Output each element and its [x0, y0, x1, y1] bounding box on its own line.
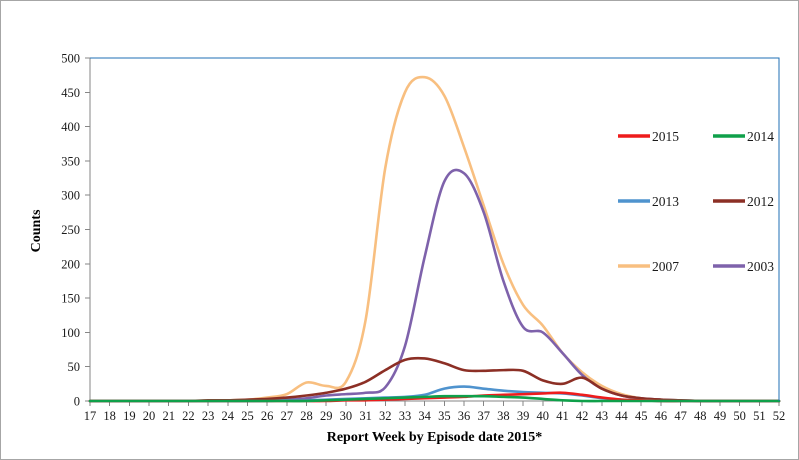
- x-tick-label: 23: [202, 409, 215, 423]
- x-tick-label: 30: [340, 409, 353, 423]
- legend-item-2012[interactable]: 2012: [713, 194, 774, 209]
- y-tick-label: 250: [61, 223, 80, 237]
- legend-label-2013: 2013: [652, 194, 679, 209]
- legend-item-2014[interactable]: 2014: [713, 129, 774, 144]
- x-tick-label: 39: [517, 409, 530, 423]
- x-tick-label: 35: [438, 409, 451, 423]
- x-tick-label: 40: [537, 409, 550, 423]
- x-tick-label: 44: [615, 409, 628, 423]
- legend-label-2007: 2007: [652, 259, 679, 274]
- axes: [90, 58, 779, 401]
- legend-label-2003: 2003: [747, 259, 774, 274]
- x-tick-label: 21: [162, 409, 175, 423]
- x-tick-label: 50: [733, 409, 746, 423]
- y-tick-label: 100: [61, 326, 80, 340]
- legend-item-2003[interactable]: 2003: [713, 259, 774, 274]
- x-tick-label: 19: [123, 409, 136, 423]
- x-tick-label: 52: [773, 409, 786, 423]
- x-tick-label: 31: [359, 409, 372, 423]
- legend-item-2015[interactable]: 2015: [618, 129, 679, 144]
- y-tick-label: 300: [61, 189, 80, 203]
- x-tick-label: 24: [222, 409, 235, 423]
- x-tick-label: 45: [635, 409, 648, 423]
- y-tick-label: 400: [61, 120, 80, 134]
- line-chart: 050100150200250300350400450500 171819202…: [1, 1, 799, 460]
- x-tick-label: 33: [399, 409, 412, 423]
- x-tick-label: 29: [320, 409, 333, 423]
- x-tick-label: 26: [261, 409, 274, 423]
- y-tick-label: 500: [61, 52, 80, 66]
- plot-frame: [90, 58, 779, 401]
- y-tick-label: 0: [74, 395, 80, 409]
- x-tick-label: 43: [596, 409, 609, 423]
- x-tick-label: 37: [477, 409, 490, 423]
- y-tick-label: 350: [61, 154, 80, 168]
- y-axis-ticks: 050100150200250300350400450500: [61, 52, 90, 409]
- y-axis-title: Counts: [29, 209, 44, 252]
- x-tick-label: 48: [694, 409, 707, 423]
- x-tick-label: 51: [753, 409, 766, 423]
- x-tick-label: 22: [182, 409, 195, 423]
- x-tick-label: 27: [281, 409, 294, 423]
- x-tick-label: 28: [300, 409, 313, 423]
- x-tick-label: 46: [655, 409, 668, 423]
- x-tick-label: 47: [674, 409, 687, 423]
- legend-item-2013[interactable]: 2013: [618, 194, 679, 209]
- x-tick-label: 34: [418, 409, 431, 423]
- chart-container: 050100150200250300350400450500 171819202…: [0, 0, 799, 460]
- x-tick-label: 49: [714, 409, 727, 423]
- x-tick-label: 20: [143, 409, 156, 423]
- series-line-2007: [90, 77, 779, 401]
- x-tick-label: 42: [576, 409, 589, 423]
- legend-label-2012: 2012: [747, 194, 774, 209]
- y-tick-label: 450: [61, 86, 80, 100]
- x-axis-ticks: 1718192021222324252627282930313233343536…: [84, 401, 786, 423]
- y-tick-label: 50: [68, 360, 81, 374]
- x-tick-label: 17: [84, 409, 97, 423]
- legend-label-2015: 2015: [652, 129, 679, 144]
- y-tick-label: 150: [61, 292, 80, 306]
- x-tick-label: 38: [497, 409, 510, 423]
- legend-label-2014: 2014: [747, 129, 774, 144]
- legend-item-2007[interactable]: 2007: [618, 259, 679, 274]
- series-line-2012: [90, 358, 779, 401]
- x-tick-label: 25: [241, 409, 254, 423]
- x-tick-label: 32: [379, 409, 392, 423]
- chart-legend: 201520142013201220072003: [618, 129, 774, 274]
- data-series-group: [90, 77, 779, 401]
- plot-frame-line: [90, 58, 779, 401]
- x-axis-title: Report Week by Episode date 2015*: [327, 430, 543, 445]
- x-tick-label: 36: [458, 409, 471, 423]
- x-tick-label: 18: [103, 409, 116, 423]
- x-tick-label: 41: [556, 409, 569, 423]
- y-tick-label: 200: [61, 257, 80, 271]
